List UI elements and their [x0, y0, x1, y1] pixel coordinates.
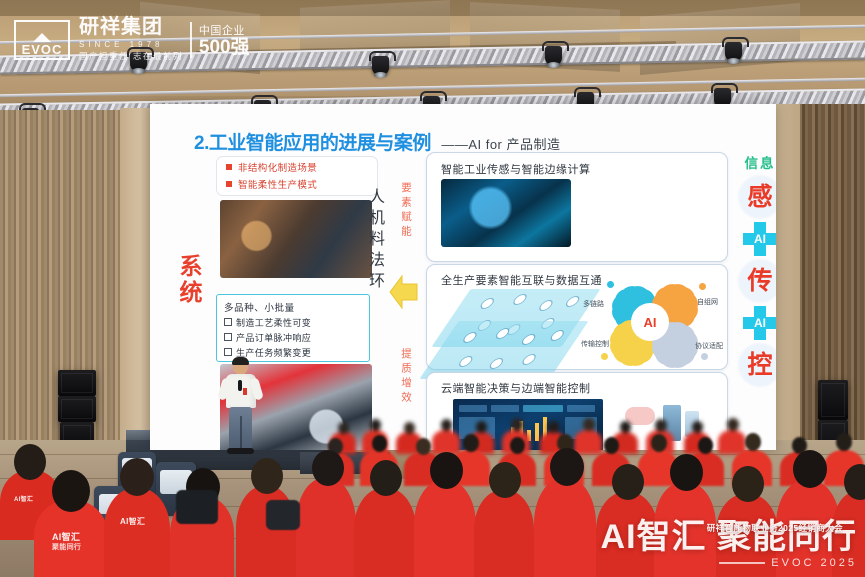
slide-title-main: 2.工业智能应用的进展与案例 — [194, 133, 431, 154]
line-array-speaker-left — [58, 396, 96, 422]
line-array-speaker-right — [818, 380, 848, 420]
panel-sensing: 智能工业传感与智能边缘计算 高速采集 边缘处理 智能识别 柔性传感 数字人感知 — [426, 152, 728, 262]
stage-light — [545, 46, 562, 65]
attendee-head — [14, 444, 46, 480]
slide-title: 2.工业智能应用的进展与案例 ——AI for 产品制造 — [194, 128, 561, 155]
event-subtitle-tiny: 研祥智能物联业务2025经销商大会 — [707, 522, 843, 534]
right-column: 信息 感 AI 传 AI 控 — [732, 152, 776, 390]
company-name-cn: 研祥集团 — [79, 17, 183, 38]
stage-light — [372, 56, 389, 75]
attendee-head — [251, 458, 283, 494]
gear-label: 多链路 — [583, 299, 604, 309]
evoc-wordmark: EVOC — [22, 43, 63, 56]
checkbox-icon — [224, 318, 232, 326]
vertical-label-improve: 提质增效 — [399, 348, 414, 406]
accent-dot — [701, 353, 708, 360]
watermark-rule — [719, 562, 765, 564]
shirt-logo: AI智汇 — [14, 494, 33, 503]
shirt-logo: AI智汇 — [120, 516, 145, 527]
award-line-1: 中国企业 — [199, 22, 250, 38]
plus-ai-icon: AI — [743, 306, 776, 340]
ai-gear-diagram: AI 多链路 自组网 传输控制 协议适配 — [585, 281, 725, 363]
list-item: 制造工艺柔性可变 — [224, 316, 369, 329]
bags-on-floor — [176, 490, 218, 524]
speaker-leg-gap — [240, 416, 242, 449]
speaker-badge — [243, 388, 247, 395]
screenshot-root: 2.工业智能应用的进展与案例 ——AI for 产品制造 非结构化制造场景 智能… — [0, 0, 865, 577]
attendee-head — [612, 464, 644, 500]
speaker-hair — [232, 357, 249, 365]
speaker — [218, 358, 262, 458]
slide-title-sub: ——AI for 产品制造 — [441, 137, 560, 152]
attendee-head — [120, 458, 154, 496]
bullet-label: 非结构化制造场景 — [238, 160, 317, 174]
accent-dot — [607, 281, 614, 288]
vertical-label-empower: 要素赋能 — [399, 182, 414, 240]
column-header: 信息 — [732, 152, 776, 172]
attendee — [296, 478, 356, 577]
attendee-head — [370, 460, 402, 496]
column-item-label: 感 — [747, 185, 772, 210]
plus-ai-icon: AI — [743, 222, 776, 256]
mesh-network-diagram — [445, 289, 585, 361]
attendee-head — [489, 462, 521, 498]
stage-light — [725, 42, 742, 61]
attendee — [534, 478, 596, 577]
gear-label: 传输控制 — [581, 339, 609, 349]
column-item-label: 控 — [747, 353, 772, 378]
attendee — [354, 488, 416, 577]
checkbox-icon — [224, 348, 232, 356]
attendee-head — [550, 448, 584, 486]
panel-heading: 云端智能决策与边端智能控制 — [441, 380, 727, 396]
attendee-head — [52, 470, 90, 512]
bags-on-floor — [266, 500, 300, 530]
gear-label: 协议适配 — [695, 341, 723, 351]
ai-core-label: AI — [633, 305, 667, 339]
attendee — [474, 490, 534, 577]
left-arrow-icon — [388, 270, 418, 314]
column-item-halo: 感 — [737, 174, 776, 220]
award-badge: 中国企业 500强 — [199, 22, 250, 57]
characteristics-list: 多品种、小批量 制造工艺柔性可变 产品订单脉冲响应 生产任务频繁变更 — [216, 294, 370, 362]
bullet-square-icon — [226, 164, 232, 170]
sunburst-icon — [33, 33, 51, 42]
list-item: 产品订单脉冲响应 — [224, 331, 369, 344]
corporate-logo-overlay: EVOC 研祥集团 SINCE 1978 国产担重任 志在最前列 中国企业 50… — [14, 17, 250, 62]
since-text: SINCE 1978 — [79, 40, 183, 49]
left-bullet-box: 非结构化制造场景 智能柔性生产模式 — [216, 156, 378, 196]
company-name-block: 研祥集团 SINCE 1978 国产担重任 志在最前列 — [79, 17, 183, 62]
bullet-item: 非结构化制造场景 — [226, 160, 377, 174]
event-brand-year: EVOC 2025 — [601, 557, 857, 569]
bullet-square-icon — [226, 181, 232, 187]
column-item-halo: 传 — [737, 258, 776, 304]
gear-label: 自组网 — [697, 297, 718, 307]
checkbox-icon — [224, 333, 232, 341]
award-line-2: 500强 — [199, 38, 250, 57]
attendee-head — [670, 454, 703, 491]
attendee-head — [793, 450, 827, 488]
attendee-head — [430, 452, 463, 489]
factory-photo-top — [220, 200, 372, 278]
evoc-logo-mark: EVOC — [14, 20, 70, 60]
attendee: AI智汇 — [104, 488, 170, 577]
panel-interconnect: 全生产要素智能互联与数据互通 — [426, 264, 728, 370]
company-tagline: 国产担重任 志在最前列 — [79, 50, 183, 62]
accent-dot — [601, 353, 608, 360]
attendee-head — [312, 450, 344, 486]
bullet-item: 智能柔性生产模式 — [226, 177, 377, 191]
edge-computing-photo — [441, 179, 571, 247]
logo-divider — [190, 22, 192, 58]
speaker-shoes — [227, 448, 254, 454]
plus-ai-label: AI — [743, 306, 776, 340]
list-heading: 多品种、小批量 — [224, 300, 369, 314]
vertical-label-elements: 人机料法环 — [362, 188, 386, 293]
vertical-label-system: 系统 — [172, 254, 206, 306]
microphone-icon — [238, 380, 242, 391]
event-watermark: 研祥智能物联业务2025经销商大会 AI智汇 聚能同行 EVOC 2025 — [601, 520, 857, 569]
panel-heading: 智能工业传感与智能边缘计算 — [441, 161, 727, 177]
column-item-halo: 控 — [737, 342, 776, 388]
attendee-head — [732, 466, 764, 502]
shirt-logo-sub: 聚能同行 — [52, 542, 81, 552]
accent-dot — [699, 283, 706, 290]
column-item-label: 传 — [747, 269, 772, 294]
plus-ai-label: AI — [743, 222, 776, 256]
attendee — [414, 480, 476, 577]
bullet-label: 智能柔性生产模式 — [238, 177, 317, 191]
line-array-speaker-left — [58, 370, 96, 396]
